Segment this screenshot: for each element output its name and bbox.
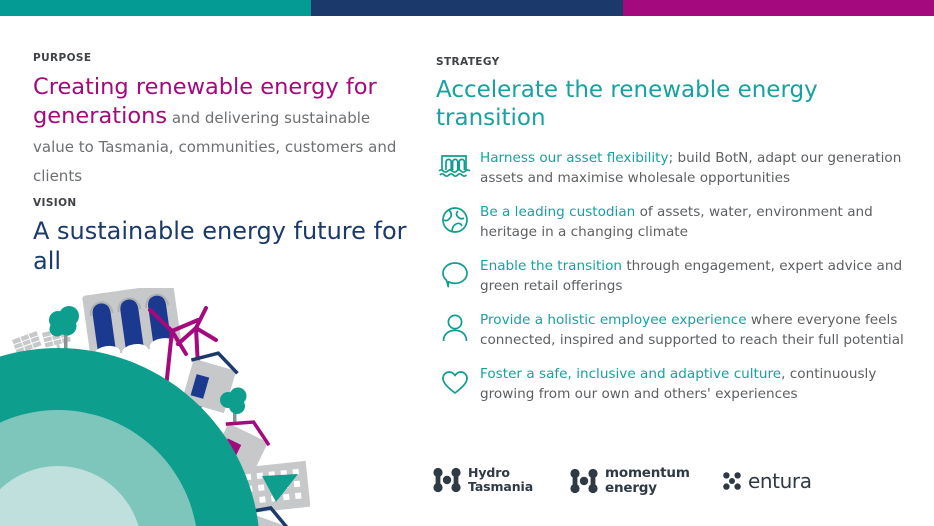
strategy-title: Accelerate the renewable energy transiti… (436, 76, 922, 132)
top-color-bar (0, 0, 934, 16)
strategy-list: Harness our asset flexibility; build Bot… (436, 148, 922, 404)
hydro-tasmania-logo-text: Hydro Tasmania (468, 466, 533, 493)
entura-logo: entura (723, 469, 812, 493)
strategy-item-text: Be a leading custodian of assets, water,… (480, 202, 922, 242)
tree-mid-right (220, 388, 247, 426)
strategy-item-text: Enable the transition through engagement… (480, 256, 922, 296)
strategy-item-text: Harness our asset flexibility; build Bot… (480, 148, 922, 188)
purpose-block: PURPOSE Creating renewable energy for ge… (33, 52, 413, 190)
strategy-item-harness-asset-flexibility: Harness our asset flexibility; build Bot… (436, 148, 922, 188)
hydro-tasmania-logo-mark (433, 467, 461, 493)
strategy-item-adaptive-culture: Foster a safe, inclusive and adaptive cu… (436, 364, 922, 404)
person-icon (436, 312, 474, 346)
tree-left (49, 306, 79, 353)
strategy-item-lead: Foster a safe, inclusive and adaptive cu… (480, 366, 781, 382)
momentum-energy-logo: momentum energy (570, 466, 690, 495)
momentum-energy-logo-mark (570, 468, 598, 494)
topbar-segment-teal (0, 0, 311, 16)
strategy-item-enable-transition: Enable the transition through engagement… (436, 256, 922, 296)
hydro-dam-icon (436, 150, 474, 184)
momentum-line-2: energy (605, 480, 657, 496)
strategy-item-text: Foster a safe, inclusive and adaptive cu… (480, 364, 922, 404)
strategy-item-leading-custodian: Be a leading custodian of assets, water,… (436, 202, 922, 242)
strategy-item-employee-experience: Provide a holistic employee experience w… (436, 310, 922, 350)
hydro-tasmania-logo: Hydro Tasmania (433, 466, 533, 493)
vision-statement: A sustainable energy future for all (33, 216, 413, 276)
logo-row: Hydro Tasmania momentum energy (433, 462, 913, 504)
strategy-item-lead: Be a leading custodian (480, 204, 635, 220)
strategy-eyebrow-label: STRATEGY (436, 56, 922, 68)
renewable-energy-world-illustration (0, 288, 310, 526)
left-column: PURPOSE Creating renewable energy for ge… (33, 52, 413, 190)
entura-logo-mark (723, 472, 741, 490)
purpose-eyebrow-label: PURPOSE (33, 52, 413, 64)
globe-icon (436, 204, 474, 238)
strategy-item-lead: Provide a holistic employee experience (480, 312, 747, 328)
vision-block: VISION A sustainable energy future for a… (33, 197, 413, 276)
hydro-tasmania-line-2: Tasmania (468, 479, 533, 494)
purpose-statement: Creating renewable energy for generation… (33, 73, 413, 190)
speech-bubble-icon (436, 258, 474, 292)
heart-icon (436, 366, 474, 400)
right-column: STRATEGY Accelerate the renewable energy… (436, 56, 922, 418)
strategy-item-text: Provide a holistic employee experience w… (480, 310, 922, 350)
entura-logo-text: entura (748, 469, 812, 493)
topbar-segment-magenta (623, 0, 934, 16)
strategy-item-lead: Harness our asset flexibility (480, 150, 669, 166)
topbar-segment-navy (311, 0, 623, 16)
momentum-energy-logo-text: momentum energy (605, 466, 690, 495)
strategy-item-lead: Enable the transition (480, 258, 622, 274)
vision-eyebrow-label: VISION (33, 197, 413, 209)
